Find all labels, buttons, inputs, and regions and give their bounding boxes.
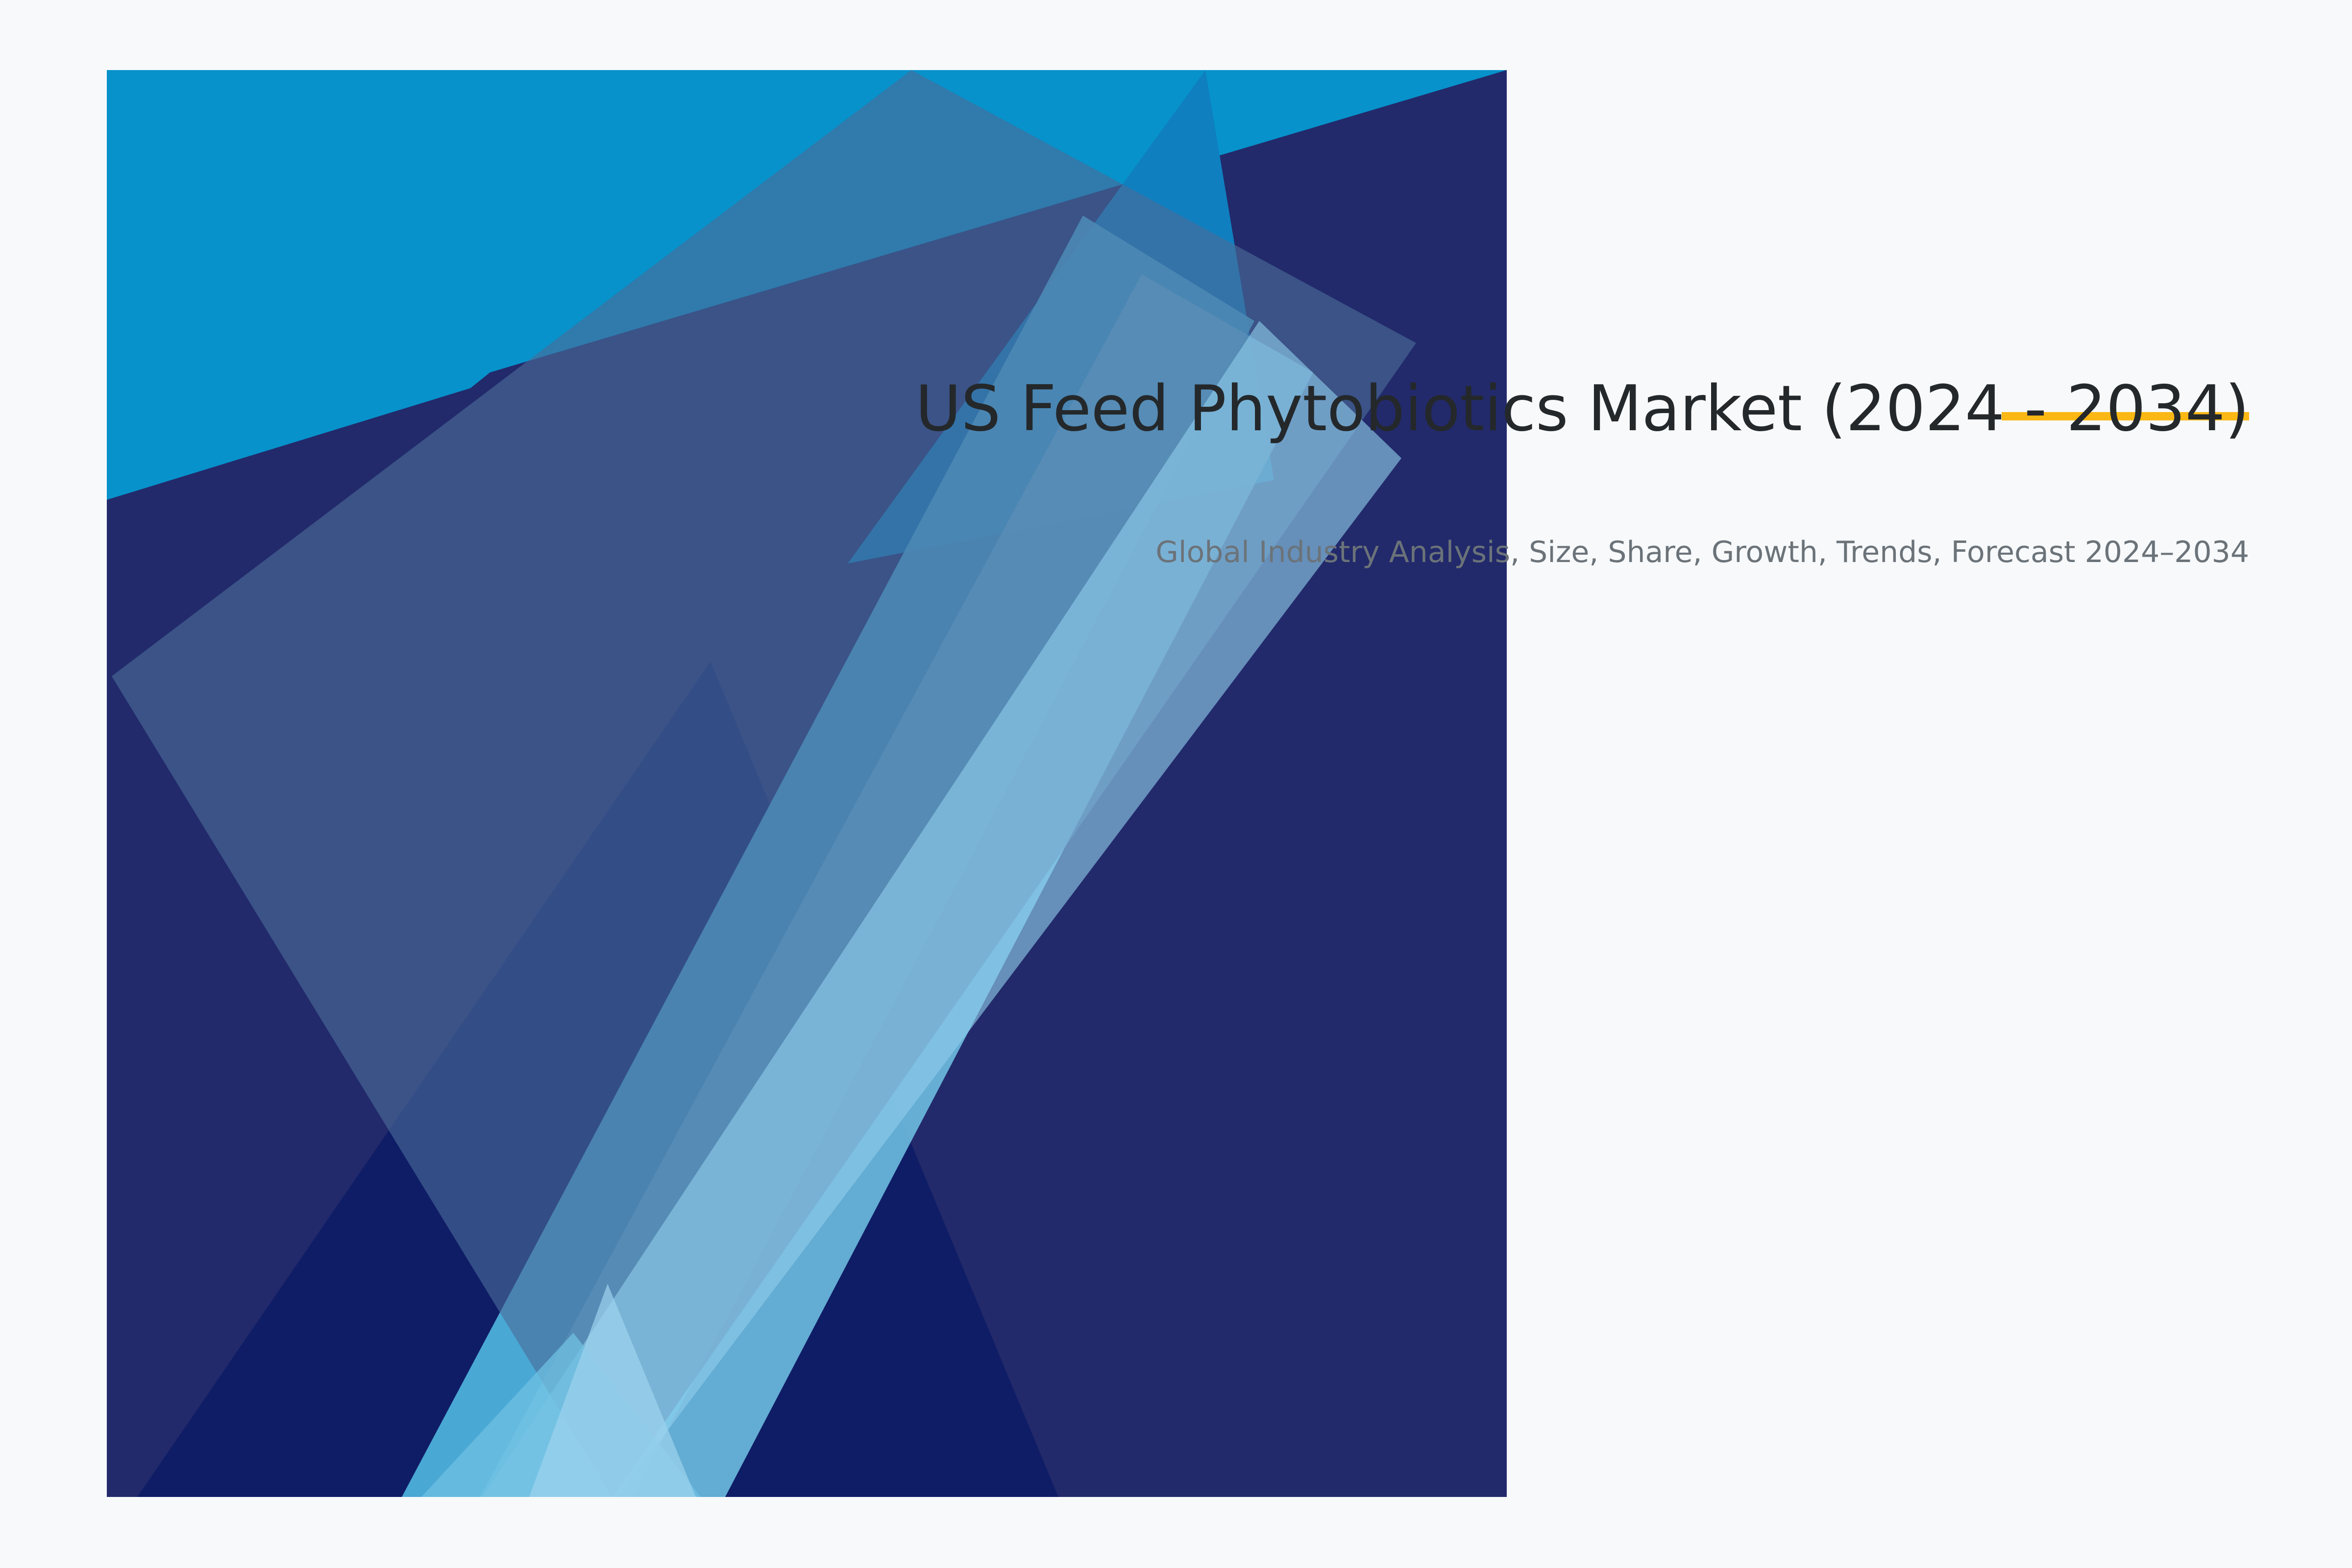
shape-cyan-base (107, 70, 1507, 1497)
shape-bottom-sky-accent (421, 1333, 701, 1497)
shape-bottom-pale-accent (529, 1284, 696, 1497)
title-block: US Feed Phytobiotics Market (2024 - 2034… (833, 372, 2249, 571)
shape-slate-blue-quad (112, 70, 1416, 1497)
shape-navy-field (107, 70, 1507, 1497)
page-subtitle: Global Industry Analysis, Size, Share, G… (833, 446, 2249, 571)
page-title: US Feed Phytobiotics Market (2024 - 2034… (833, 372, 2249, 446)
slide-root: US Feed Phytobiotics Market (2024 - 2034… (0, 0, 2352, 1568)
shape-navy-diagonal-band (107, 70, 1507, 1497)
shape-deep-navy-triangle (137, 661, 1058, 1497)
title-wrapper: US Feed Phytobiotics Market (2024 - 2034… (833, 372, 2249, 446)
abstract-geometric-artwork (0, 0, 2352, 1568)
